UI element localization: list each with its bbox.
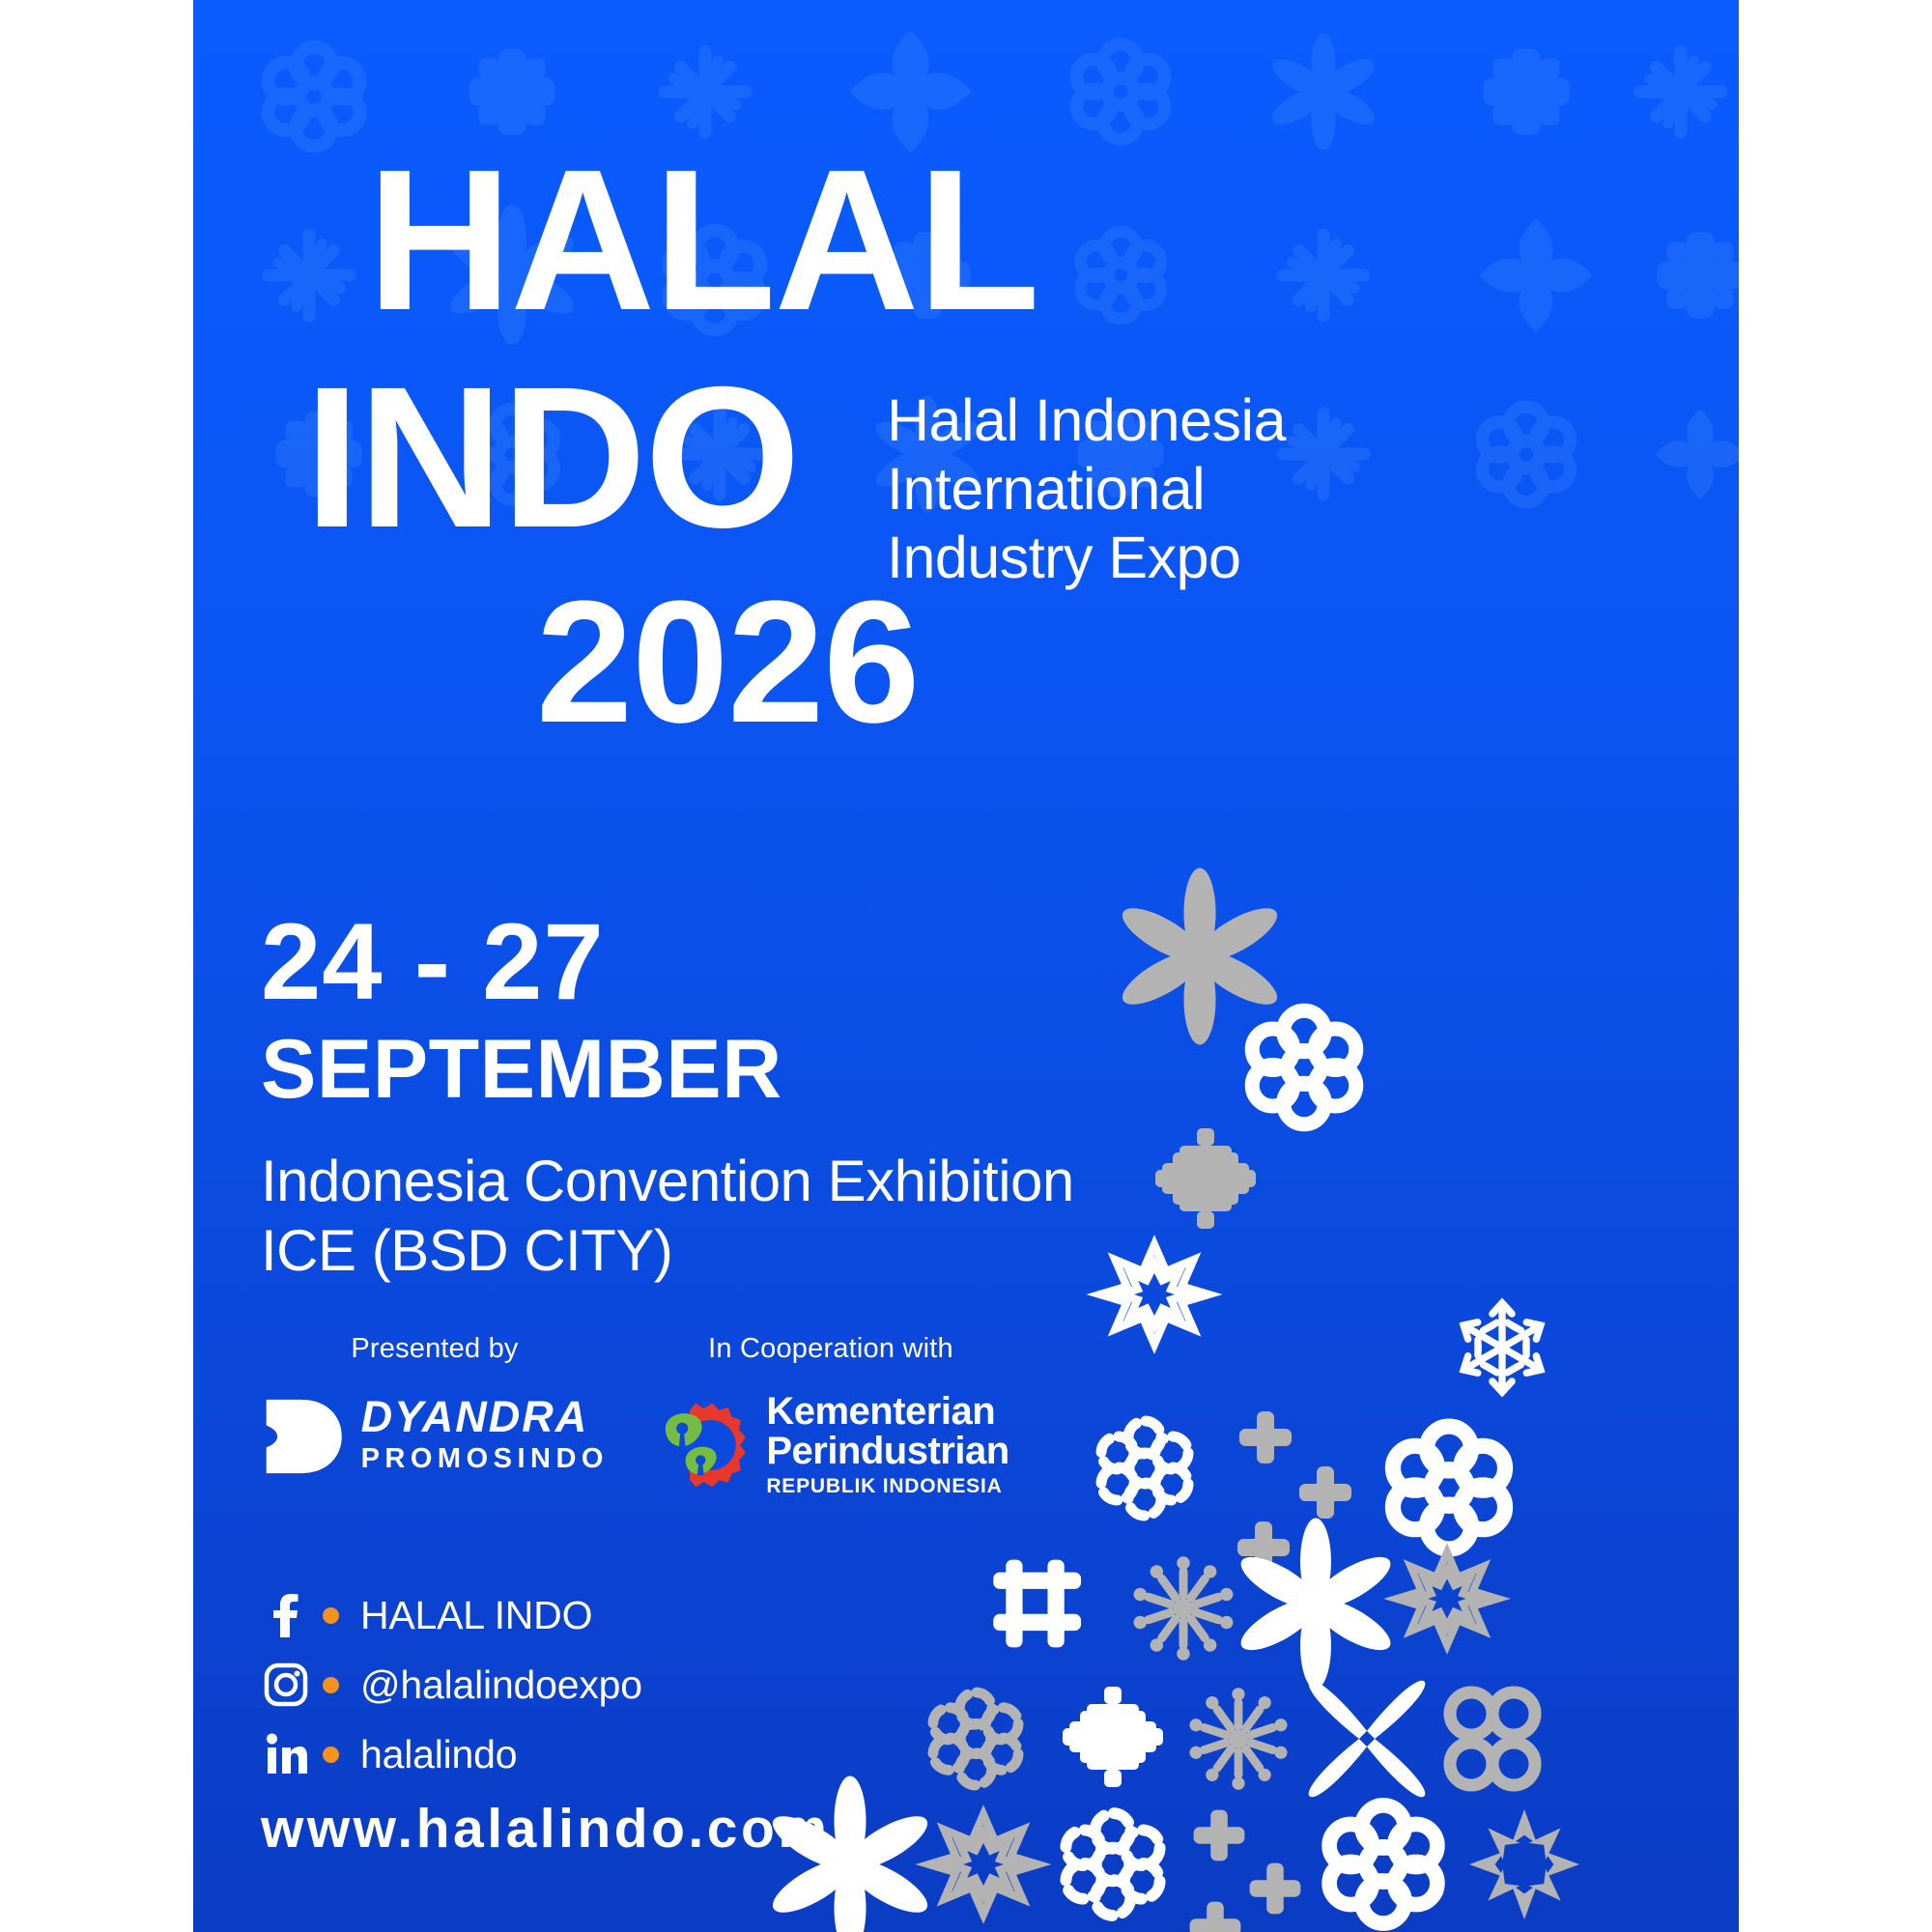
kementerian-line-1: Kementerian: [766, 1392, 1009, 1432]
instagram-icon: [261, 1662, 311, 1707]
tagline-line-2: International: [887, 455, 1286, 524]
event-date-range: 24 - 27: [261, 908, 1074, 1016]
website-url[interactable]: www.halalindo.com: [261, 1797, 830, 1861]
bullet-dot: [323, 1677, 339, 1693]
social-row-instagram[interactable]: @halalindoexpo: [261, 1654, 642, 1716]
kementerian-line-2: Perindustrian: [766, 1432, 1009, 1471]
brand-halal: HALAL: [367, 145, 1038, 338]
dyandra-sub: PROMOSINDO: [361, 1441, 609, 1478]
dyandra-name: DYANDRA: [361, 1395, 609, 1438]
bullet-dot: [323, 1747, 339, 1763]
instagram-handle: @halalindoexpo: [360, 1662, 642, 1708]
social-row-facebook[interactable]: HALAL INDO: [261, 1584, 642, 1646]
dyandra-d-mark-icon: [261, 1392, 346, 1481]
linkedin-handle: halalindo: [360, 1732, 517, 1777]
venue-line-1: Indonesia Convention Exhibition: [261, 1147, 1074, 1216]
tagline-block: Halal Indonesia International Industry E…: [887, 386, 1286, 591]
sponsor-in-cooperation-with: In Cooperation with: [647, 1333, 1014, 1498]
bullet-dot: [323, 1607, 339, 1624]
dyandra-logo[interactable]: DYANDRA PROMOSINDO: [261, 1392, 609, 1481]
in-cooperation-label: In Cooperation with: [647, 1333, 1014, 1365]
kementerian-logo[interactable]: Kementerian Perindustrian REPUBLIK INDON…: [647, 1392, 1014, 1498]
linkedin-icon: [261, 1733, 311, 1776]
tagline-line-3: Industry Expo: [887, 524, 1286, 592]
venue-line-2: ICE (BSD CITY): [261, 1216, 1074, 1286]
tagline-line-1: Halal Indonesia: [887, 386, 1286, 455]
brand-year: 2026: [536, 580, 919, 747]
event-details: 24 - 27 SEPTEMBER Indonesia Convention E…: [261, 908, 1074, 1286]
sponsor-presented-by: Presented by DYANDRA PROMOSINDO: [261, 1333, 609, 1481]
kementerian-gear-leaf-icon: [652, 1395, 753, 1495]
presented-by-label: Presented by: [261, 1333, 609, 1365]
kementerian-line-3: REPUBLIK INDONESIA: [766, 1475, 1009, 1498]
social-links: HALAL INDO @halalindoexpo: [261, 1584, 642, 1793]
social-row-linkedin[interactable]: halalindo: [261, 1723, 642, 1785]
poster-canvas: HALAL INDO 2026 Halal Indonesia Internat…: [0, 0, 1932, 1932]
brand-indo: INDO: [304, 362, 799, 555]
poster-blue-panel: HALAL INDO 2026 Halal Indonesia Internat…: [193, 0, 1739, 1932]
facebook-handle: HALAL INDO: [360, 1593, 592, 1638]
facebook-icon: [261, 1593, 311, 1637]
event-month: SEPTEMBER: [261, 1022, 1074, 1118]
